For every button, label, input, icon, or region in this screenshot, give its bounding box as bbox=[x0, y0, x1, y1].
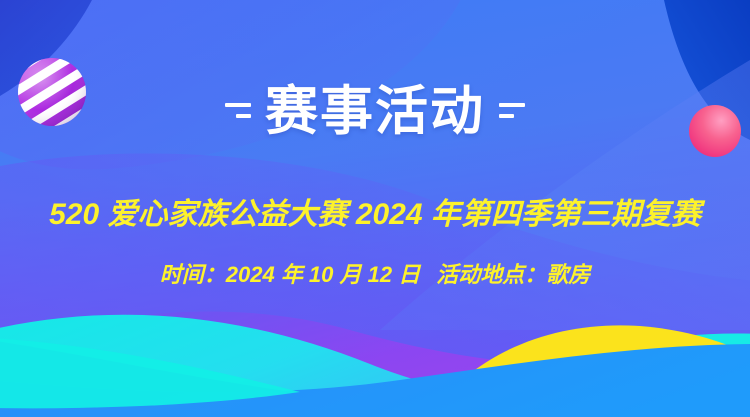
time-label: 时间： bbox=[160, 262, 226, 287]
dash-short-right-icon bbox=[499, 114, 514, 118]
event-subtitle: 520 爱心家族公益大赛 2024 年第四季第三期复赛 bbox=[0, 198, 750, 231]
main-title-row: 赛事活动 bbox=[0, 76, 750, 146]
page-title: 赛事活动 bbox=[265, 85, 485, 138]
place-value: 歌房 bbox=[546, 262, 590, 287]
title-right-dashes bbox=[499, 103, 525, 120]
banner-text-layer: 赛事活动 520 爱心家族公益大赛 2024 年第四季第三期复赛 时间：2024… bbox=[0, 0, 750, 417]
dash-long-right-icon bbox=[499, 103, 525, 107]
title-left-dashes bbox=[225, 103, 251, 120]
dash-short-left-icon bbox=[236, 114, 251, 118]
place-label: 活动地点： bbox=[436, 262, 546, 287]
event-banner: 赛事活动 520 爱心家族公益大赛 2024 年第四季第三期复赛 时间：2024… bbox=[0, 0, 750, 417]
event-meta: 时间：2024 年 10 月 12 日活动地点：歌房 bbox=[0, 263, 750, 287]
dash-long-left-icon bbox=[225, 103, 251, 107]
time-value: 2024 年 10 月 12 日 bbox=[226, 262, 420, 287]
